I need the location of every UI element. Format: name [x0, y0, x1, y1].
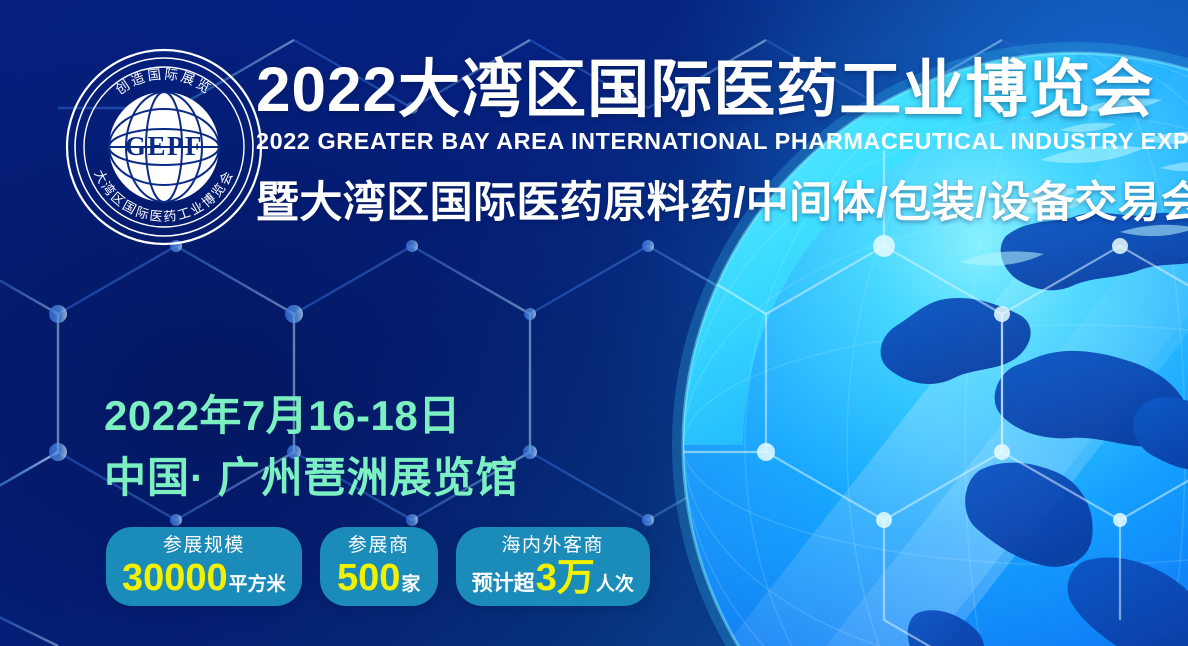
- stat-number: 500: [337, 559, 400, 597]
- stat-pill-exhibition-area: 参展规模 30000 平方米: [106, 527, 302, 606]
- main-title-cn: 2022大湾区国际医药工业博览会: [256, 58, 1143, 123]
- gepf-logo: GEPF 创造国际展览 大湾区国际医药工业博览会: [62, 45, 266, 249]
- event-info: 2022年7月16-18日 中国· 广州琶洲展览馆: [104, 392, 519, 503]
- stat-prefix: 预计超: [472, 573, 535, 594]
- stat-unit: 家: [401, 575, 420, 594]
- stat-pill-visitors: 海内外客商 预计超 3万 人次: [456, 527, 650, 606]
- event-date: 2022年7月16-18日: [104, 392, 519, 440]
- stat-unit: 平方米: [229, 575, 286, 594]
- stat-value: 500 家: [337, 559, 420, 597]
- stat-number: 3万: [536, 559, 595, 597]
- stat-pill-exhibitors: 参展商 500 家: [320, 527, 438, 606]
- stat-label: 参展规模: [163, 534, 245, 558]
- stat-label: 海内外客商: [502, 534, 605, 558]
- stat-unit: 人次: [596, 575, 634, 594]
- sub-title-cn: 暨大湾区国际医药原料药/中间体/包装/设备交易会: [256, 168, 1156, 230]
- svg-text:GEPF: GEPF: [125, 131, 203, 161]
- stat-number: 30000: [122, 559, 228, 597]
- event-promo-banner: GEPF 创造国际展览 大湾区国际医药工业博览会 2022大湾区国际医药工业博览…: [0, 0, 1188, 646]
- title-block: 2022大湾区国际医药工业博览会 2022 GREATER BAY AREA I…: [256, 58, 1156, 230]
- stat-label: 参展商: [348, 534, 410, 558]
- stat-value: 预计超 3万 人次: [472, 559, 634, 597]
- event-venue: 中国· 广州琶洲展览馆: [104, 454, 519, 502]
- stats-row: 参展规模 30000 平方米 参展商 500 家 海内外客商 预计超 3万 人次: [106, 527, 650, 606]
- stat-value: 30000 平方米: [122, 559, 286, 597]
- main-title-en: 2022 GREATER BAY AREA INTERNATIONAL PHAR…: [256, 128, 1152, 155]
